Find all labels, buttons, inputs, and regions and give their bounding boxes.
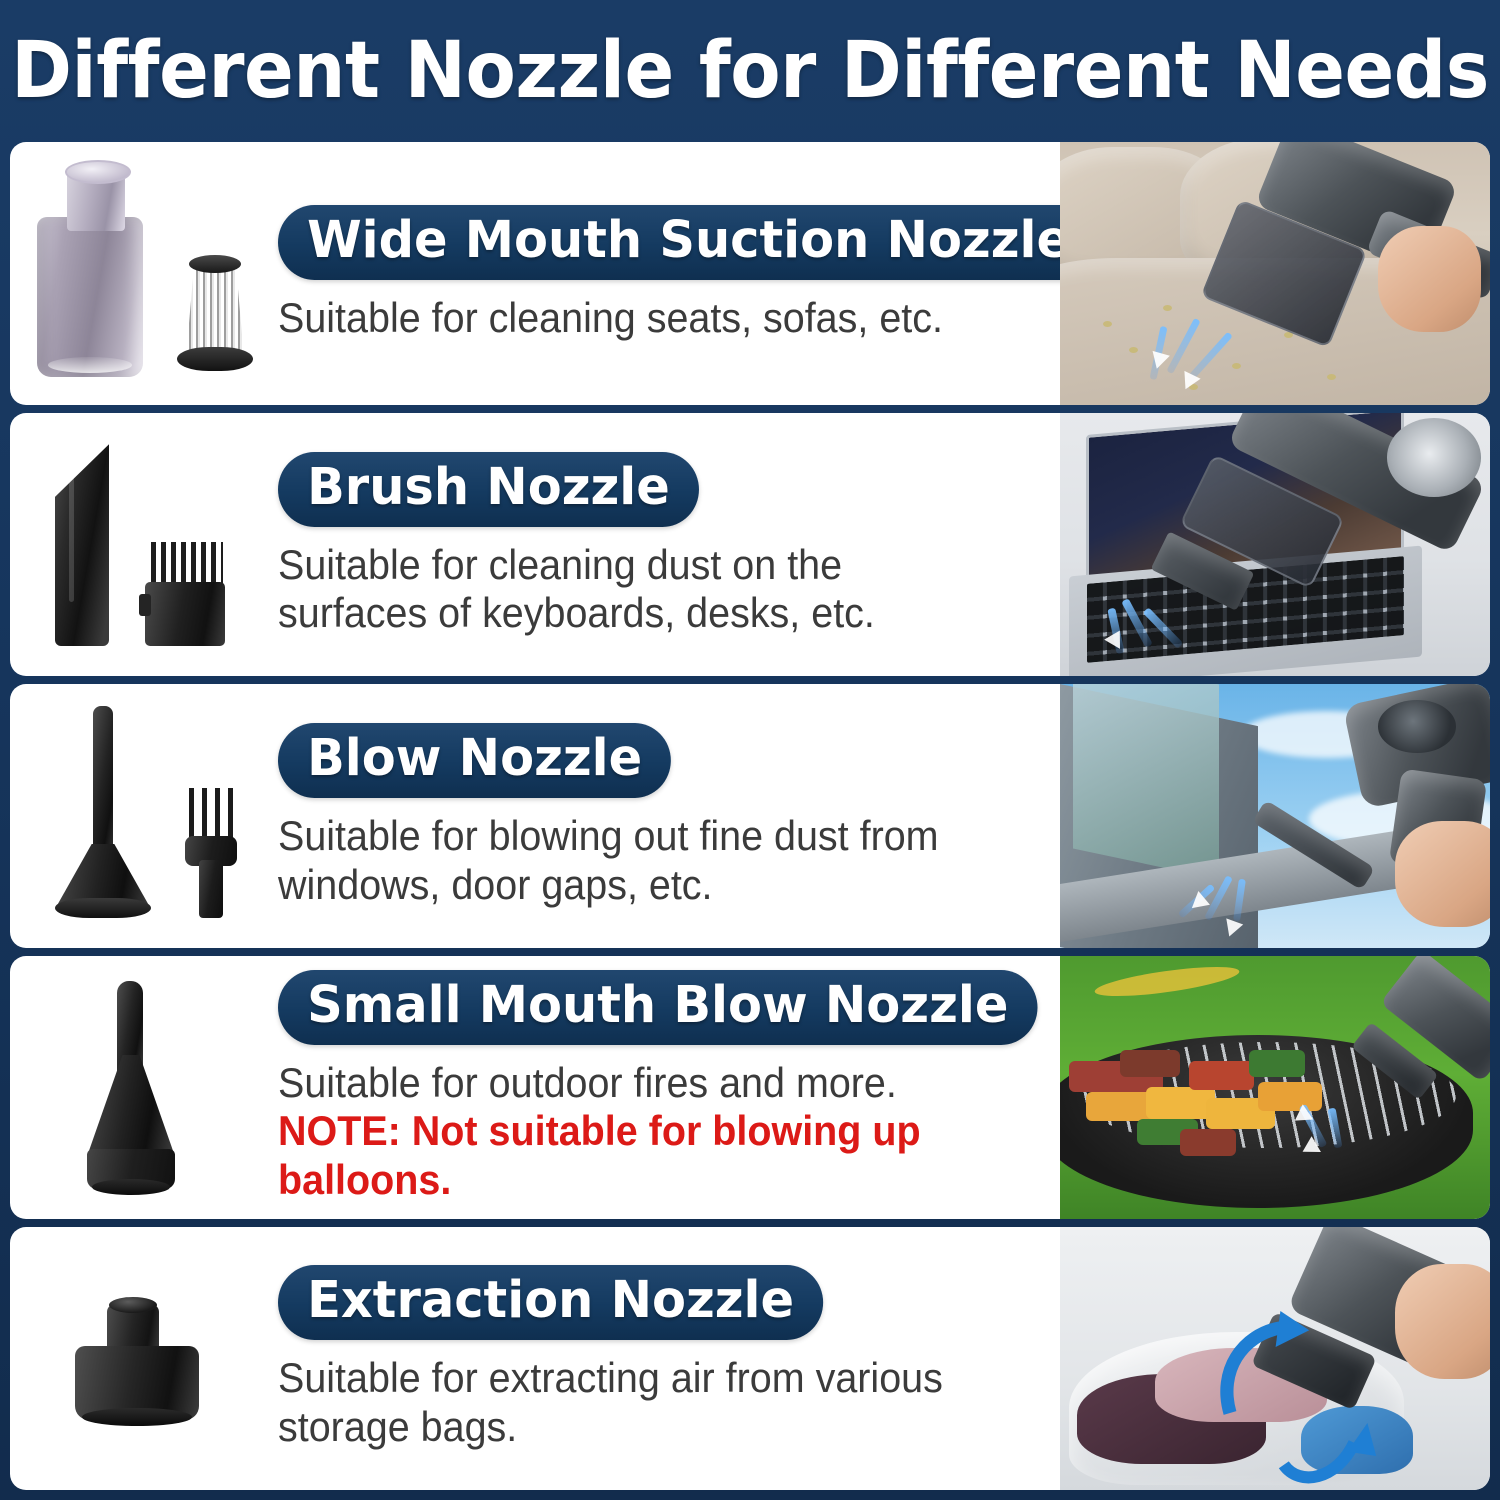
pin-brush-icon [179, 788, 241, 918]
header-banner: Different Nozzle for Different Needs [10, 0, 1490, 142]
flat-brush-icon [139, 542, 225, 646]
crevice-tool-and-brush-icon [29, 437, 259, 652]
extraction-adapter-icon [29, 1251, 259, 1466]
filter-base-cap-icon [177, 347, 253, 371]
nozzle-card-brush: Brush Nozzle Suitable for cleaning dust … [10, 413, 1490, 676]
horn-flare-icon [89, 1055, 173, 1151]
filter-pleats-icon [186, 265, 244, 357]
nozzle-rows: Wide Mouth Suction Nozzle Suitable for c… [10, 142, 1490, 1490]
airflow-arrow-icon [1275, 1379, 1385, 1489]
nozzle-description: Suitable for cleaning seats, sofas, etc. [278, 294, 1002, 343]
nozzle-card-extraction: Extraction Nozzle Suitable for extractin… [10, 1227, 1490, 1490]
filter-top-cap-icon [189, 255, 241, 273]
nozzle-title-badge: Extraction Nozzle [278, 1265, 823, 1340]
laptop-keyboard-cleaning-photo [1060, 413, 1490, 676]
horn-nozzle-icon [75, 981, 187, 1189]
nozzle-description: Suitable for cleaning dust on the surfac… [278, 541, 1002, 638]
blow-nozzle-and-pin-brush-icon [29, 709, 259, 924]
photo-column [1060, 956, 1490, 1219]
window-track-blowing-photo [1060, 684, 1490, 947]
dust-cup-body-icon [37, 217, 143, 377]
text-column: Brush Nozzle Suitable for cleaning dust … [278, 413, 1060, 676]
dust-cup-and-filter-icon [29, 166, 259, 381]
text-column: Blow Nozzle Suitable for blowing out fin… [278, 684, 1060, 947]
nozzle-description: Suitable for outdoor fires and more. [278, 1059, 1002, 1108]
nozzle-title-badge: Brush Nozzle [278, 452, 699, 527]
text-column: Small Mouth Blow Nozzle Suitable for out… [278, 956, 1060, 1219]
horn-base-icon [87, 1149, 175, 1189]
brush-body-icon [145, 582, 225, 646]
adapter-body-icon [75, 1346, 199, 1420]
product-icon-column [10, 956, 278, 1219]
product-icon-column [10, 413, 278, 676]
hepa-filter-icon [177, 251, 253, 371]
brush-bristles-icon [151, 542, 223, 586]
text-column: Extraction Nozzle Suitable for extractin… [278, 1227, 1060, 1490]
nozzle-card-blow: Blow Nozzle Suitable for blowing out fin… [10, 684, 1490, 947]
nozzle-card-wide-mouth-suction: Wide Mouth Suction Nozzle Suitable for c… [10, 142, 1490, 405]
photo-column [1060, 142, 1490, 405]
blow-nozzle-base-icon [55, 898, 151, 918]
page-title: Different Nozzle for Different Needs [11, 26, 1489, 116]
small-mouth-horn-nozzle-icon [29, 980, 259, 1195]
vacuum-storage-bag-photo [1060, 1227, 1490, 1490]
adapter-icon [75, 1304, 203, 1420]
window-glass [1073, 684, 1219, 879]
hand-icon [1378, 226, 1481, 331]
blow-nozzle-icon [51, 706, 159, 918]
nozzle-title-badge: Small Mouth Blow Nozzle [278, 970, 1037, 1045]
dust-cup-neck-icon [67, 169, 125, 231]
infographic-page: Different Nozzle for Different Needs Wid… [0, 0, 1500, 1500]
hand-icon [1395, 1264, 1490, 1380]
pin-brush-stem-icon [199, 860, 223, 918]
sofa-vacuuming-photo [1060, 142, 1490, 405]
photo-column [1060, 684, 1490, 947]
text-column: Wide Mouth Suction Nozzle Suitable for c… [278, 142, 1060, 405]
photo-column [1060, 1227, 1490, 1490]
photo-column [1060, 413, 1490, 676]
hand-icon [1395, 821, 1490, 926]
nozzle-card-small-mouth-blow: Small Mouth Blow Nozzle Suitable for out… [10, 956, 1490, 1219]
bbq-grill-blowing-photo [1060, 956, 1490, 1219]
nozzle-cap-icon [1378, 700, 1455, 753]
nozzle-description: Suitable for blowing out fine dust from … [278, 812, 1002, 909]
crevice-tool-icon [55, 444, 109, 646]
product-icon-column [10, 684, 278, 947]
product-icon-column [10, 142, 278, 405]
product-icon-column [10, 1227, 278, 1490]
nozzle-warning-note: NOTE: Not suitable for blowing up balloo… [278, 1107, 1002, 1204]
nozzle-title-badge: Blow Nozzle [278, 723, 671, 798]
blow-nozzle-cone-icon [57, 844, 149, 906]
nozzle-title-badge: Wide Mouth Suction Nozzle [278, 205, 1099, 280]
nozzle-description: Suitable for extracting air from various… [278, 1354, 1002, 1451]
